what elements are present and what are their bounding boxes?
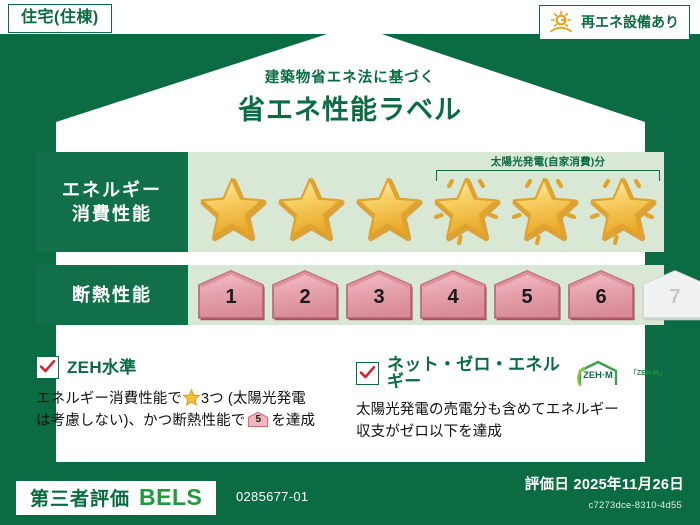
insulation-performance-row: 断熱性能 1234567 — [36, 265, 664, 325]
star-icon-solar — [506, 171, 582, 249]
zeh-desc-badge-value: 5 — [247, 415, 269, 425]
insulation-level-badge: 5 — [492, 268, 562, 322]
insulation-level-value: 7 — [640, 287, 700, 307]
energy-row-label: エネルギー 消費性能 — [36, 152, 188, 252]
zeh-description: エネルギー消費性能で3つ (太陽光発電は考慮しない)、かつ断熱性能で5を達成 — [36, 388, 336, 433]
star-icon-filled — [272, 171, 348, 249]
insulation-level-value: 1 — [196, 287, 266, 307]
zeh-desc-part1: エネルギー消費性能で — [36, 391, 182, 407]
bels-jp-label: 第三者評価 — [30, 490, 130, 509]
insulation-level-badge: 2 — [270, 268, 340, 322]
svg-text:ZEH·M: ZEH·M — [583, 369, 613, 380]
nzeb-description: 太陽光発電の売電分も含めてエネルギー収支がゼロ以下を達成 — [356, 399, 666, 444]
insulation-level-value: 5 — [492, 287, 562, 307]
star-rating — [188, 170, 664, 249]
building-type-tag: 住宅(住棟) — [8, 4, 112, 33]
nzeb-heading: ネット・ゼロ・エネルギー ZEH·M 「ZEH-M」 — [356, 356, 666, 390]
insulation-level-badge: 4 — [418, 268, 488, 322]
energy-rating-area: 太陽光発電(自家消費)分 — [188, 152, 664, 252]
label-subtitle: 建築物省エネ法に基づく — [0, 66, 700, 87]
insulation-level-badge: 6 — [566, 268, 636, 322]
insulation-level-scale: 1234567 — [196, 267, 660, 323]
insulation-level-badge: 1 — [196, 268, 266, 322]
document-uuid: c7273dce-8310-4d55 — [589, 500, 682, 511]
bels-certification-badge: 第三者評価 BELS — [16, 481, 216, 515]
insulation-level-value: 3 — [344, 287, 414, 307]
nzeb-desc-line1: 太陽光発電の売電分も含めてエネルギー — [356, 402, 619, 418]
renewable-equipment-badge: 再エネ設備あり — [539, 5, 690, 40]
star-icon-solar — [584, 171, 660, 249]
insulation-row-label: 断熱性能 — [36, 265, 188, 325]
insulation-rating-area: 1234567 — [188, 265, 664, 325]
star-icon — [183, 389, 200, 406]
solar-bracket-label: 太陽光発電(自家消費)分 — [426, 154, 670, 169]
renewable-badge-label: 再エネ設備あり — [581, 15, 679, 29]
zeh-desc-part3: は考慮しない)、かつ断熱性能で — [36, 413, 245, 429]
energy-performance-row: エネルギー 消費性能 太陽光発電(自家消費)分 — [36, 152, 664, 252]
page-title: 省エネ性能ラベル — [0, 88, 700, 127]
energy-label-line1: エネルギー — [62, 178, 162, 202]
insulation-level-badge: 7 — [640, 268, 700, 322]
insulation-level-value: 4 — [418, 287, 488, 307]
insulation-grade-badge-icon: 5 — [247, 411, 269, 428]
insulation-level-value: 6 — [566, 287, 636, 307]
zeh-desc-part2: 3つ (太陽光発電 — [201, 391, 306, 407]
star-icon-filled — [194, 171, 270, 249]
net-zero-energy-section: ネット・ゼロ・エネルギー ZEH·M 「ZEH-M」 太陽光発電の売電分も含めて… — [356, 356, 666, 444]
energy-label-line2: 消費性能 — [72, 202, 152, 226]
star-icon-filled — [350, 171, 426, 249]
star-icon-solar — [428, 171, 504, 249]
insulation-label-text: 断熱性能 — [72, 286, 152, 304]
zeh-desc-part4: を達成 — [271, 413, 315, 429]
zeh-m-logo-caption: 「ZEH-M」 — [630, 368, 666, 378]
nzeb-title: ネット・ゼロ・エネルギー — [387, 356, 569, 390]
checkbox-checked-icon[interactable] — [36, 356, 59, 379]
bels-certificate-number: 0285677-01 — [236, 489, 308, 504]
evaluation-date: 評価日 2025年11月26日 — [525, 473, 684, 494]
zeh-heading: ZEH水準 — [36, 356, 336, 379]
zeh-title: ZEH水準 — [67, 359, 137, 376]
checkbox-checked-icon[interactable] — [356, 362, 379, 385]
zeh-standard-section: ZEH水準 エネルギー消費性能で3つ (太陽光発電は考慮しない)、かつ断熱性能で… — [36, 356, 336, 433]
energy-performance-label: 住宅(住棟) 再エネ設備あり 建築物省エネ法に基づく 省エネ性能ラベル エネルギ… — [0, 0, 700, 525]
nzeb-desc-line2: 収支がゼロ以下を達成 — [356, 424, 502, 440]
zeh-m-house-logo-icon: ZEH·M — [575, 360, 621, 386]
solar-sun-icon — [548, 10, 574, 34]
insulation-level-badge: 3 — [344, 268, 414, 322]
insulation-level-value: 2 — [270, 287, 340, 307]
bels-en-label: BELS — [139, 486, 202, 509]
